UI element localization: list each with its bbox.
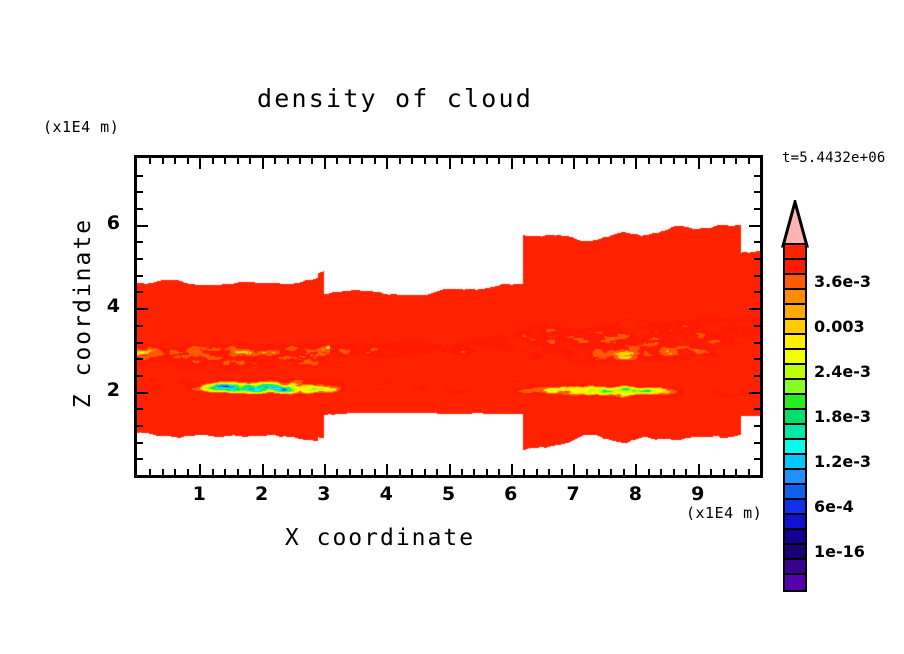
x-minor-tick [311, 469, 313, 475]
x-tick-label: 7 [558, 483, 588, 505]
time-annotation: t=5.4432e+06 [782, 150, 886, 166]
y-right-minor-tick [754, 208, 760, 210]
colorbar-label: 1.8e-3 [814, 407, 871, 426]
x-minor-tick [349, 469, 351, 475]
x-top-minor-tick [399, 158, 401, 164]
x-major-tick [386, 464, 388, 475]
colorbar-band [785, 365, 805, 380]
x-top-minor-tick [461, 158, 463, 164]
y-axis-units-label: (x1E4 m) [43, 118, 119, 136]
x-top-major-tick [262, 158, 264, 169]
x-minor-tick [224, 469, 226, 475]
x-top-major-tick [635, 158, 637, 169]
y-minor-tick [137, 358, 143, 360]
y-right-minor-tick [754, 241, 760, 243]
x-tick-label: 8 [620, 483, 650, 505]
colorbar-label: 1.2e-3 [814, 452, 871, 471]
x-top-minor-tick [411, 158, 413, 164]
x-tick-label: 3 [309, 483, 339, 505]
colorbar-band [785, 350, 805, 365]
x-minor-tick [723, 469, 725, 475]
x-top-minor-tick [598, 158, 600, 164]
plot-area[interactable] [134, 155, 763, 478]
y-minor-tick [137, 375, 143, 377]
x-minor-tick [274, 469, 276, 475]
x-top-minor-tick [723, 158, 725, 164]
x-top-minor-tick [361, 158, 363, 164]
x-tick-label: 4 [371, 483, 401, 505]
colorbar-band [785, 500, 805, 515]
x-top-minor-tick [710, 158, 712, 164]
x-minor-tick [287, 469, 289, 475]
x-minor-tick [523, 469, 525, 475]
x-top-minor-tick [287, 158, 289, 164]
y-minor-tick [137, 241, 143, 243]
y-minor-tick [137, 325, 143, 327]
colorbar-band [785, 275, 805, 290]
x-minor-tick [424, 469, 426, 475]
x-minor-tick [237, 469, 239, 475]
colorbar-extend-arrow-icon [780, 200, 814, 248]
colorbar-band [785, 515, 805, 530]
x-major-tick [262, 464, 264, 475]
y-major-tick [137, 225, 148, 227]
y-right-minor-tick [754, 408, 760, 410]
y-right-minor-tick [754, 175, 760, 177]
x-top-minor-tick [586, 158, 588, 164]
x-minor-tick [586, 469, 588, 475]
y-tick-label: 4 [86, 295, 120, 317]
x-minor-tick [411, 469, 413, 475]
page-title: density of cloud [0, 84, 790, 113]
x-minor-tick [374, 469, 376, 475]
y-minor-tick [137, 442, 143, 444]
x-minor-tick [710, 469, 712, 475]
colorbar-band [785, 425, 805, 440]
x-minor-tick [548, 469, 550, 475]
x-top-minor-tick [498, 158, 500, 164]
x-minor-tick [212, 469, 214, 475]
x-top-minor-tick [486, 158, 488, 164]
x-minor-tick [623, 469, 625, 475]
x-minor-tick [536, 469, 538, 475]
colorbar-band [785, 440, 805, 455]
y-right-minor-tick [754, 442, 760, 444]
y-minor-tick [137, 191, 143, 193]
y-minor-tick [137, 458, 143, 460]
colorbar-label: 3.6e-3 [814, 272, 871, 291]
colorbar-bands[interactable] [783, 243, 807, 592]
x-top-minor-tick [523, 158, 525, 164]
x-top-minor-tick [610, 158, 612, 164]
y-right-minor-tick [754, 191, 760, 193]
colorbar-band [785, 575, 805, 590]
y-major-tick [137, 308, 148, 310]
y-right-major-tick [749, 225, 760, 227]
x-top-major-tick [386, 158, 388, 169]
x-top-minor-tick [536, 158, 538, 164]
x-top-minor-tick [424, 158, 426, 164]
x-top-minor-tick [548, 158, 550, 164]
y-minor-tick [137, 275, 143, 277]
x-minor-tick [735, 469, 737, 475]
x-top-minor-tick [249, 158, 251, 164]
x-major-tick [698, 464, 700, 475]
y-right-minor-tick [754, 291, 760, 293]
colorbar-band [785, 545, 805, 560]
x-minor-tick [336, 469, 338, 475]
x-top-minor-tick [648, 158, 650, 164]
x-tick-label: 1 [184, 483, 214, 505]
x-top-minor-tick [623, 158, 625, 164]
x-minor-tick [461, 469, 463, 475]
y-right-minor-tick [754, 342, 760, 344]
x-minor-tick [187, 469, 189, 475]
x-top-minor-tick [274, 158, 276, 164]
x-top-major-tick [449, 158, 451, 169]
x-minor-tick [610, 469, 612, 475]
colorbar-band [785, 560, 805, 575]
x-minor-tick [174, 469, 176, 475]
x-minor-tick [249, 469, 251, 475]
colorbar-label: 0.003 [814, 317, 865, 336]
colorbar-band [785, 380, 805, 395]
x-top-major-tick [199, 158, 201, 169]
colorbar-band [785, 245, 805, 260]
x-top-minor-tick [224, 158, 226, 164]
x-minor-tick [162, 469, 164, 475]
colorbar-band [785, 410, 805, 425]
colorbar-band [785, 530, 805, 545]
x-minor-tick [299, 469, 301, 475]
x-top-minor-tick [735, 158, 737, 164]
x-axis-title: X coordinate [0, 525, 760, 551]
x-minor-tick [149, 469, 151, 475]
x-minor-tick [748, 469, 750, 475]
x-top-minor-tick [237, 158, 239, 164]
colorbar-band [785, 305, 805, 320]
x-top-major-tick [324, 158, 326, 169]
x-top-major-tick [698, 158, 700, 169]
colorbar[interactable]: 3.6e-30.0032.4e-31.8e-31.2e-36e-41e-16 [780, 200, 900, 485]
x-minor-tick [436, 469, 438, 475]
x-minor-tick [399, 469, 401, 475]
x-minor-tick [361, 469, 363, 475]
colorbar-band [785, 320, 805, 335]
x-major-tick [511, 464, 513, 475]
x-major-tick [449, 464, 451, 475]
x-top-minor-tick [149, 158, 151, 164]
colorbar-band [785, 470, 805, 485]
x-minor-tick [486, 469, 488, 475]
x-major-tick [324, 464, 326, 475]
y-minor-tick [137, 291, 143, 293]
x-minor-tick [685, 469, 687, 475]
x-axis-units-label: (x1E4 m) [686, 504, 762, 522]
colorbar-band [785, 335, 805, 350]
colorbar-band [785, 290, 805, 305]
x-top-major-tick [511, 158, 513, 169]
x-top-minor-tick [311, 158, 313, 164]
y-right-minor-tick [754, 258, 760, 260]
x-minor-tick [648, 469, 650, 475]
colorbar-band [785, 260, 805, 275]
colorbar-label: 2.4e-3 [814, 362, 871, 381]
x-tick-label: 9 [683, 483, 713, 505]
y-right-minor-tick [754, 375, 760, 377]
x-top-minor-tick [748, 158, 750, 164]
colorbar-band [785, 455, 805, 470]
x-minor-tick [673, 469, 675, 475]
x-top-minor-tick [660, 158, 662, 164]
x-major-tick [635, 464, 637, 475]
y-minor-tick [137, 408, 143, 410]
y-right-minor-tick [754, 325, 760, 327]
x-top-minor-tick [349, 158, 351, 164]
y-right-major-tick [749, 392, 760, 394]
x-top-minor-tick [299, 158, 301, 164]
y-major-tick [137, 392, 148, 394]
x-top-minor-tick [473, 158, 475, 164]
x-tick-label: 2 [247, 483, 277, 505]
x-minor-tick [660, 469, 662, 475]
colorbar-band [785, 485, 805, 500]
y-tick-label: 2 [86, 379, 120, 401]
y-minor-tick [137, 175, 143, 177]
y-minor-tick [137, 208, 143, 210]
x-minor-tick [598, 469, 600, 475]
x-top-minor-tick [561, 158, 563, 164]
colorbar-label: 6e-4 [814, 497, 854, 516]
x-top-minor-tick [673, 158, 675, 164]
x-major-tick [573, 464, 575, 475]
colorbar-band [785, 395, 805, 410]
y-minor-tick [137, 258, 143, 260]
x-top-minor-tick [162, 158, 164, 164]
y-right-minor-tick [754, 275, 760, 277]
y-right-minor-tick [754, 425, 760, 427]
x-top-minor-tick [187, 158, 189, 164]
y-right-minor-tick [754, 358, 760, 360]
x-minor-tick [473, 469, 475, 475]
x-top-minor-tick [374, 158, 376, 164]
x-top-major-tick [573, 158, 575, 169]
x-top-minor-tick [212, 158, 214, 164]
x-top-minor-tick [336, 158, 338, 164]
y-tick-label: 6 [86, 212, 120, 234]
x-tick-label: 5 [434, 483, 464, 505]
x-tick-label: 6 [496, 483, 526, 505]
x-minor-tick [561, 469, 563, 475]
x-top-minor-tick [174, 158, 176, 164]
x-top-minor-tick [685, 158, 687, 164]
y-minor-tick [137, 425, 143, 427]
y-minor-tick [137, 342, 143, 344]
x-major-tick [199, 464, 201, 475]
contour-field-canvas [137, 158, 760, 475]
y-right-major-tick [749, 308, 760, 310]
x-minor-tick [498, 469, 500, 475]
x-top-minor-tick [436, 158, 438, 164]
colorbar-label: 1e-16 [814, 542, 865, 561]
y-right-minor-tick [754, 458, 760, 460]
